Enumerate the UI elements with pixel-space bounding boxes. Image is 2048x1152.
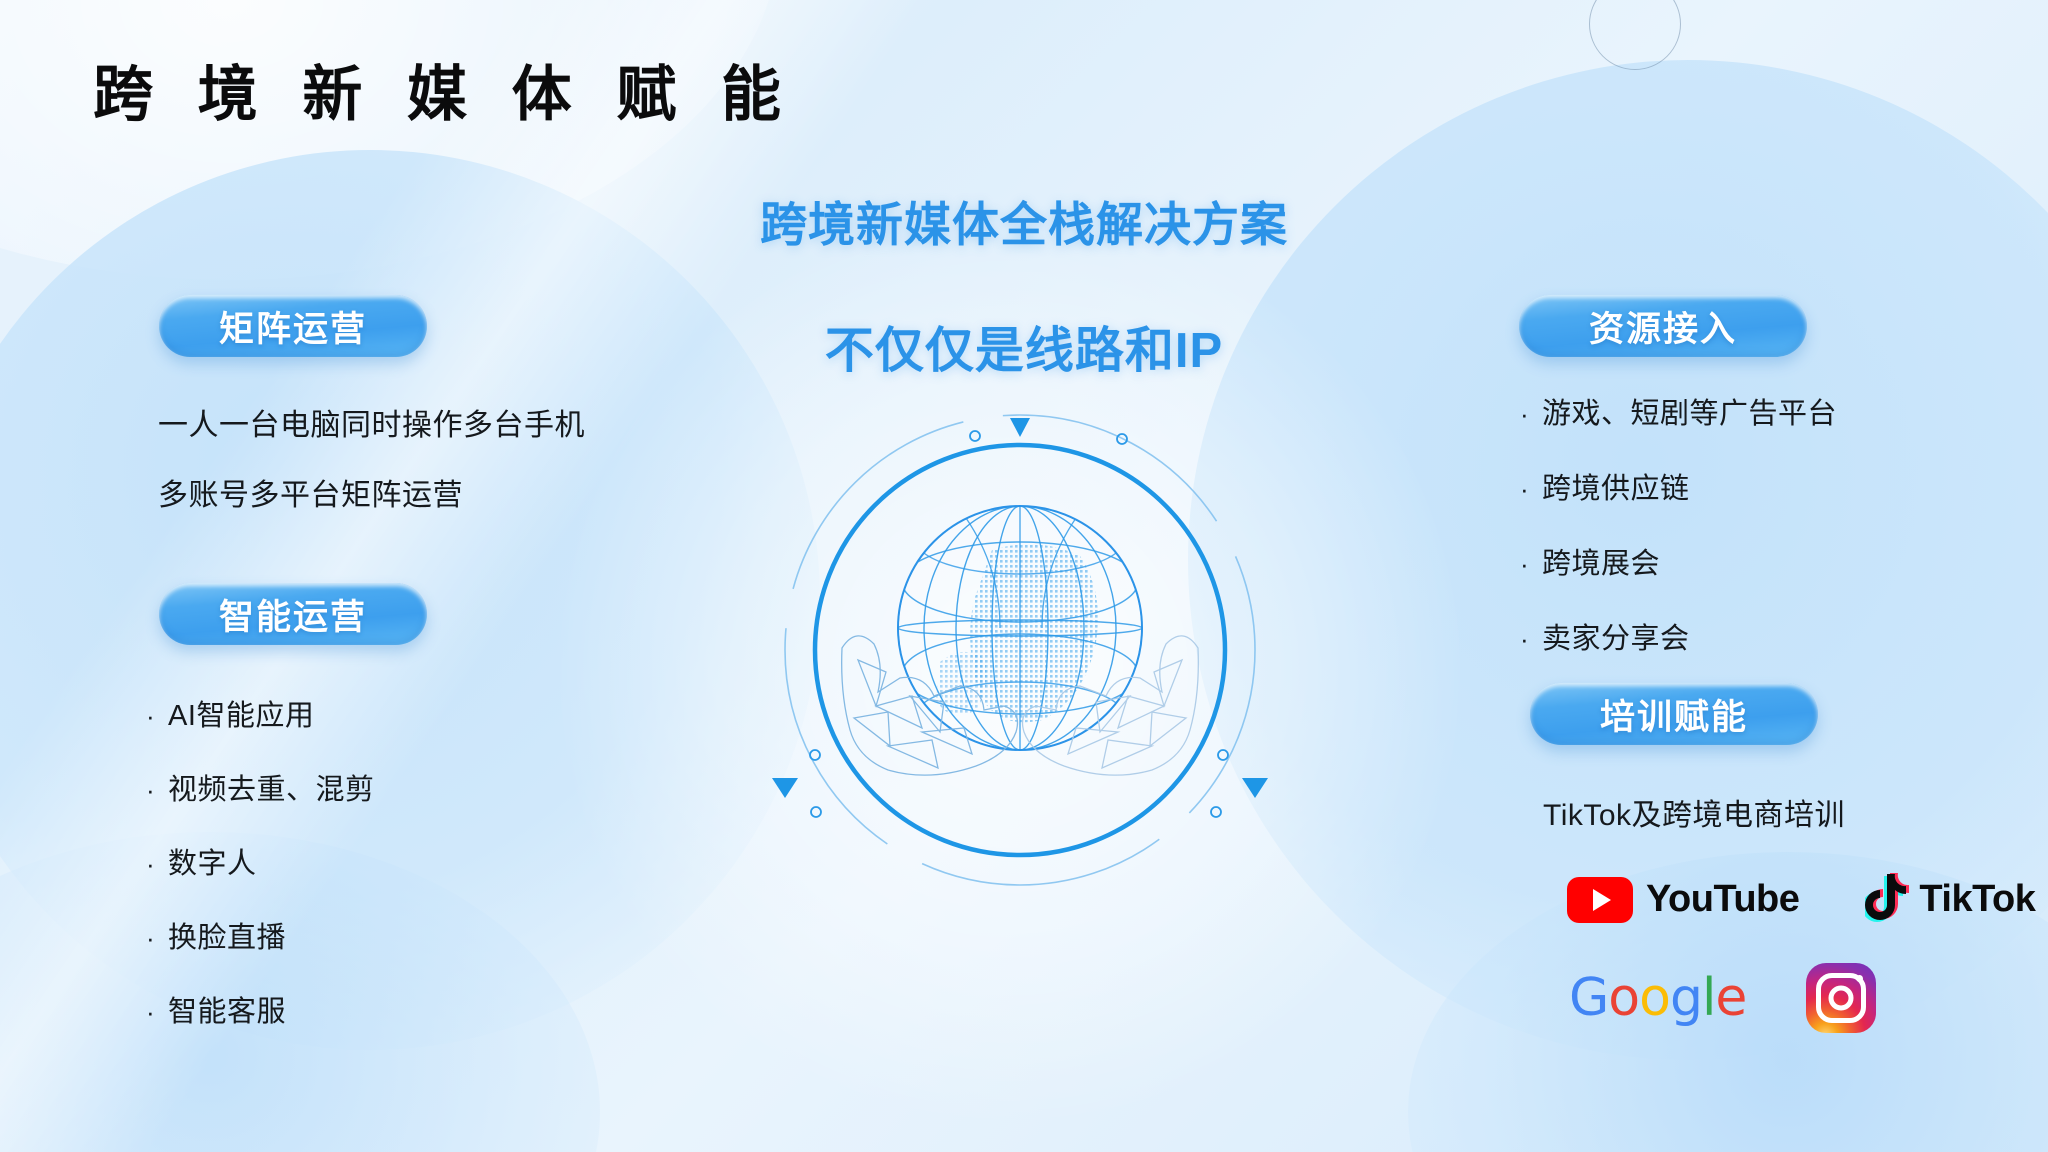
- google-letter-G: G: [1569, 968, 1608, 1028]
- list-item: · 换脸直播: [146, 914, 375, 956]
- google-letter-o1: o: [1608, 968, 1639, 1028]
- list-item: · AI智能应用: [146, 692, 375, 734]
- bullet-dot-icon: ·: [146, 775, 168, 806]
- matrix-paragraph-2: 多账号多平台矩阵运营: [158, 470, 463, 514]
- resource-access-list: · 游戏、短剧等广告平台 · 跨境供应链 · 跨境展会 · 卖家分享会: [1520, 390, 1837, 690]
- list-item: · 跨境供应链: [1520, 465, 1837, 507]
- badge-label: 矩阵运营: [219, 301, 367, 352]
- center-heading-primary: 跨境新媒体全栈解决方案: [0, 186, 2048, 255]
- bullet-dot-icon: ·: [1520, 399, 1542, 430]
- google-logo[interactable]: Google: [1569, 968, 1746, 1028]
- list-item: · 数字人: [146, 840, 375, 882]
- list-item: · 跨境展会: [1520, 540, 1837, 582]
- google-letter-o2: o: [1639, 968, 1670, 1028]
- smart-operations-list: · AI智能应用 · 视频去重、混剪 · 数字人 · 换脸直播 · 智能客服: [146, 692, 375, 1062]
- list-item-label: 卖家分享会: [1542, 615, 1690, 657]
- bullet-dot-icon: ·: [1520, 624, 1542, 655]
- platform-logo-row-1: YouTube TikTok: [1567, 872, 2035, 927]
- matrix-paragraph-1: 一人一台电脑同时操作多台手机: [158, 400, 585, 444]
- badge-matrix-operations[interactable]: 矩阵运营: [159, 295, 427, 357]
- youtube-play-icon: [1567, 877, 1633, 923]
- list-item: · 卖家分享会: [1520, 615, 1837, 657]
- tiktok-note-icon: [1865, 872, 1909, 927]
- list-item-label: 游戏、短剧等广告平台: [1542, 390, 1837, 432]
- list-item: · 游戏、短剧等广告平台: [1520, 390, 1837, 432]
- bullet-dot-icon: ·: [146, 701, 168, 732]
- list-item-label: 数字人: [168, 840, 257, 882]
- google-letter-l: l: [1702, 968, 1715, 1028]
- bullet-dot-icon: ·: [146, 997, 168, 1028]
- youtube-wordmark: YouTube: [1646, 878, 1799, 921]
- youtube-logo[interactable]: YouTube: [1567, 877, 1799, 923]
- instagram-lens-icon: [1829, 986, 1854, 1011]
- google-letter-g: g: [1670, 968, 1702, 1028]
- tiktok-wordmark: TikTok: [1919, 878, 2035, 921]
- bullet-dot-icon: ·: [1520, 549, 1542, 580]
- badge-resource-access[interactable]: 资源接入: [1519, 295, 1807, 357]
- bullet-dot-icon: ·: [146, 923, 168, 954]
- globe-illustration: [770, 400, 1270, 900]
- badge-label: 智能运营: [219, 589, 367, 640]
- list-item-label: 视频去重、混剪: [168, 766, 375, 808]
- list-item: · 智能客服: [146, 988, 375, 1030]
- list-item-label: 智能客服: [168, 988, 286, 1030]
- badge-training-empowerment[interactable]: 培训赋能: [1530, 683, 1818, 745]
- badge-label: 培训赋能: [1600, 689, 1748, 740]
- badge-smart-operations[interactable]: 智能运营: [159, 583, 427, 645]
- platform-logo-row-2: Google: [1569, 963, 1876, 1033]
- globe-in-hands-icon: [770, 400, 1270, 900]
- tiktok-logo[interactable]: TikTok: [1865, 872, 2035, 927]
- list-item-label: AI智能应用: [168, 692, 314, 734]
- list-item-label: 跨境供应链: [1542, 465, 1690, 507]
- google-letter-e: e: [1715, 968, 1746, 1028]
- slide-canvas: 跨 境 新 媒 体 赋 能 跨境新媒体全栈解决方案 不仅仅是线路和IP: [0, 0, 2048, 1152]
- instagram-logo[interactable]: [1806, 963, 1876, 1033]
- bullet-dot-icon: ·: [1520, 474, 1542, 505]
- badge-label: 资源接入: [1589, 301, 1737, 352]
- training-description: TikTok及跨境电商培训: [1543, 790, 1845, 834]
- bullet-dot-icon: ·: [146, 849, 168, 880]
- list-item-label: 换脸直播: [168, 914, 286, 956]
- page-title: 跨 境 新 媒 体 赋 能: [93, 46, 795, 133]
- list-item: · 视频去重、混剪: [146, 766, 375, 808]
- list-item-label: 跨境展会: [1542, 540, 1660, 582]
